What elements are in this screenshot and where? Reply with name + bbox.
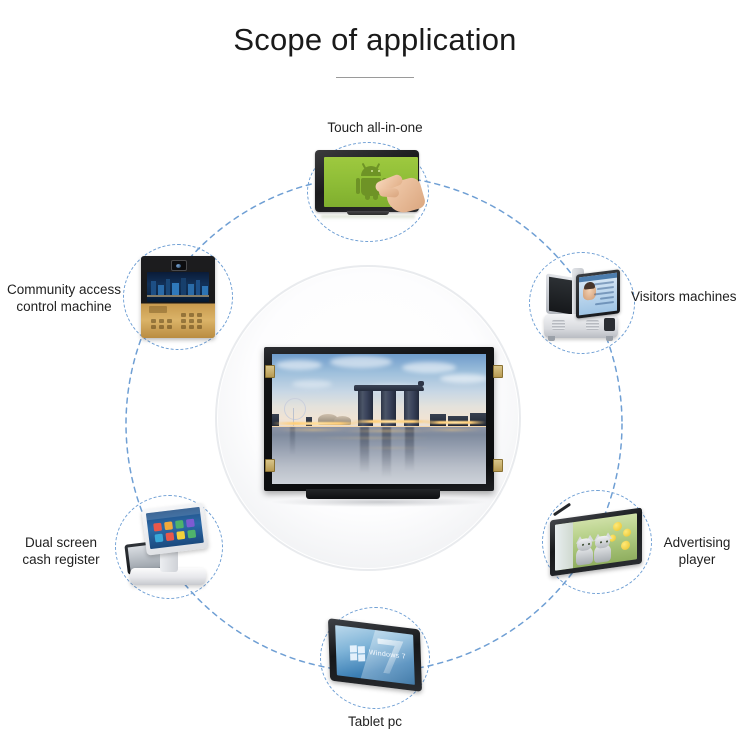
art-visitors-machine	[538, 262, 624, 342]
node-touch-all-in-one[interactable]	[311, 148, 431, 236]
art-community-access-control-machine	[141, 256, 215, 338]
cacm-keypad[interactable]	[149, 306, 207, 332]
label-advertising-player: Advertising player	[645, 534, 749, 568]
panel-connector-tab	[493, 365, 503, 378]
panel-connector-tab	[265, 365, 275, 378]
advertising-screen	[555, 513, 637, 571]
mbs-skypark	[354, 385, 424, 391]
cacm-screen	[147, 272, 209, 302]
art-tablet-pc: Windows 7	[327, 620, 423, 694]
panel-base-strip	[306, 489, 440, 499]
scene-water	[272, 427, 486, 484]
infographic-canvas: Scope of application	[0, 0, 750, 750]
label-visitors-machines: Visitors machines	[631, 288, 750, 305]
label-tablet-pc: Tablet pc	[300, 713, 450, 730]
art-advertising-player	[548, 506, 644, 576]
cashier-touch-screen[interactable]	[141, 502, 208, 555]
visitor-primary-screen	[576, 269, 620, 318]
kiosk-vent	[552, 320, 565, 330]
label-touch-all-in-one: Touch all-in-one	[285, 119, 465, 136]
panel-bezel	[264, 347, 494, 491]
tablet-screen[interactable]: Windows 7	[335, 625, 415, 685]
node-advertising-player[interactable]	[548, 506, 644, 576]
kitten-right	[593, 535, 612, 564]
label-dual-screen-cash-register: Dual screen cash register	[0, 534, 122, 568]
node-community-access-control-machine[interactable]	[141, 256, 215, 338]
hub-lcd-display-panel	[258, 347, 500, 507]
art-touch-all-in-one	[311, 148, 429, 220]
label-community-access-control-machine: Community access control machine	[0, 281, 130, 315]
windows-logo-icon	[350, 645, 367, 663]
panel-screen	[272, 354, 486, 484]
kiosk-vent	[586, 320, 599, 330]
ferris-wheel	[284, 398, 306, 420]
kitten-left	[575, 537, 594, 566]
node-dual-screen-cash-register[interactable]	[124, 502, 212, 590]
pointing-hand-icon	[377, 170, 423, 214]
node-visitors-machines[interactable]	[538, 262, 624, 342]
camera-icon	[171, 260, 187, 271]
panel-connector-tab	[493, 459, 503, 472]
panel-connector-tab	[265, 459, 275, 472]
visitor-photo-icon	[583, 283, 596, 301]
node-tablet-pc[interactable]: Windows 7	[327, 620, 423, 694]
art-dual-screen-cash-register	[124, 502, 212, 590]
card-reader-pad[interactable]	[604, 318, 615, 331]
